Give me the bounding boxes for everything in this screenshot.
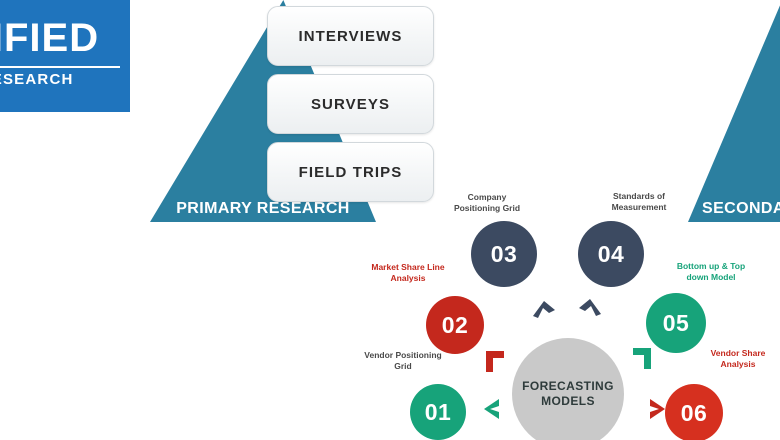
forecast-label-02: Market Share Line Analysis — [360, 262, 456, 284]
forecast-node-02[interactable]: 02 — [426, 296, 484, 354]
chevron-corner-left-icon — [484, 348, 506, 374]
forecasting-models-center: FORECASTING MODELS — [512, 338, 624, 440]
forecast-label-04: Standards of Measurement — [584, 191, 694, 213]
method-box-interviews[interactable]: INTERVIEWS — [267, 6, 434, 66]
forecast-label-06: Vendor Share Analysis — [692, 348, 780, 370]
forecast-label-03: Company Positioning Grid — [428, 192, 546, 214]
logo-tagline: T RESEARCH — [0, 70, 130, 90]
forecast-label-05: Bottom up & Top down Model — [656, 261, 766, 283]
secondary-research-label: SECONDA — [702, 200, 780, 218]
logo-wordmark: RIFIED — [0, 16, 130, 60]
forecast-node-03[interactable]: 03 — [471, 221, 537, 287]
chevron-up-right-icon — [576, 293, 604, 319]
forecast-node-01[interactable]: 01 — [410, 384, 466, 440]
center-title-line2: MODELS — [541, 394, 595, 409]
method-box-surveys[interactable]: SURVEYS — [267, 74, 434, 134]
center-title-line1: FORECASTING — [522, 379, 614, 394]
secondary-research-triangle — [688, 0, 780, 222]
forecast-label-01: Vendor Positioning Grid — [348, 350, 458, 372]
forecast-node-04[interactable]: 04 — [578, 221, 644, 287]
method-box-field-trips[interactable]: FIELD TRIPS — [267, 142, 434, 202]
logo-divider — [0, 66, 120, 68]
chevron-left-icon — [482, 397, 504, 421]
chevron-up-left-icon — [530, 295, 558, 321]
chevron-right-icon — [645, 397, 667, 421]
primary-research-label: PRIMARY RESEARCH — [158, 200, 368, 218]
forecast-node-06[interactable]: 06 — [665, 384, 723, 440]
infographic-canvas: RIFIED T RESEARCH PRIMARY RESEARCH SECON… — [0, 0, 780, 440]
brand-logo: RIFIED T RESEARCH — [0, 0, 130, 112]
forecast-node-05[interactable]: 05 — [646, 293, 706, 353]
chevron-corner-right-icon — [631, 345, 653, 371]
